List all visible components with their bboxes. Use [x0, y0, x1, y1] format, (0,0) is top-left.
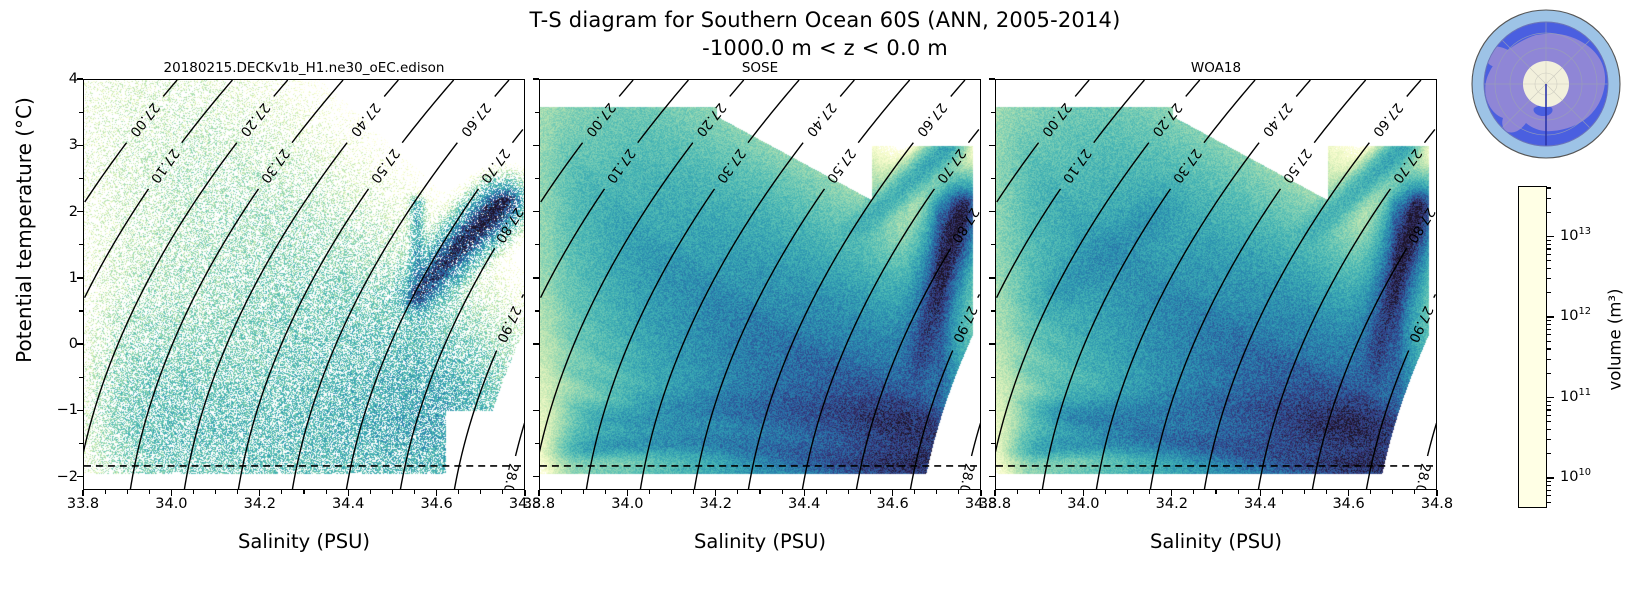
- y-minor-tick-mark: [535, 112, 539, 113]
- density-contour-line: [968, 129, 978, 142]
- y-tick-label: −1: [57, 402, 78, 418]
- colorbar-minor-tick-mark: [1547, 409, 1551, 410]
- density-contour-line: [748, 143, 913, 489]
- y-axis-label: Potential temperature (°C): [12, 10, 36, 450]
- colorbar-tick-mark: [1547, 397, 1554, 398]
- panel-title-woa18: WOA18: [995, 59, 1437, 77]
- density-contour-label: 27.90: [949, 303, 979, 344]
- colorbar-minor-tick-mark: [1547, 359, 1551, 360]
- x-minor-tick-mark: [671, 490, 672, 494]
- contour-overlay-sose: 27.0027.1027.2027.3027.4027.5027.6027.70…: [540, 80, 980, 489]
- x-minor-tick-mark: [1127, 490, 1128, 494]
- density-contour-line: [384, 80, 398, 96]
- antarctica-inset-map: [1448, 4, 1644, 164]
- colorbar-tick-labels: 1013101210111010: [1547, 186, 1647, 508]
- plot-area-model: 27.0027.1027.2027.3027.4027.5027.6027.70…: [84, 80, 524, 489]
- x-minor-tick-mark: [994, 490, 995, 494]
- density-contour-label: 27.30: [257, 146, 292, 186]
- density-contour-line: [951, 80, 965, 96]
- x-minor-tick-mark: [870, 490, 871, 494]
- x-minor-tick-mark: [737, 490, 738, 494]
- density-contour-label: 27.40: [1259, 100, 1295, 139]
- colorbar-label: volume (m³): [1606, 225, 1625, 455]
- density-contour-line: [1204, 143, 1369, 489]
- x-tick-label: 34.6: [876, 496, 908, 512]
- density-contour-label: 27.30: [713, 146, 748, 186]
- x-minor-tick-mark: [1304, 490, 1305, 494]
- x-minor-tick-mark: [1392, 490, 1393, 494]
- density-contour-line: [997, 189, 1061, 298]
- density-contour-line: [694, 189, 824, 489]
- x-axis-label-sose: Salinity (PSU): [539, 527, 981, 557]
- density-contour-label: 27.00: [126, 100, 162, 139]
- density-contour-label: 27.80: [492, 205, 524, 245]
- x-tick-label: 34.0: [1067, 496, 1099, 512]
- density-contour-line: [292, 80, 343, 143]
- density-contour-line: [997, 143, 1039, 202]
- x-minor-tick-mark: [1083, 490, 1084, 494]
- colorbar-tick-mark: [1547, 477, 1554, 478]
- y-minor-tick-mark: [535, 377, 539, 378]
- figure-title: T-S diagram for Southern Ocean 60S (ANN,…: [0, 6, 1650, 62]
- x-minor-tick-mark: [259, 490, 260, 494]
- x-minor-tick-mark: [524, 490, 525, 494]
- density-contour-line: [1314, 80, 1365, 143]
- y-minor-tick-mark: [991, 178, 995, 179]
- y-tick-label: −2: [57, 469, 78, 485]
- x-minor-tick-mark: [1017, 490, 1018, 494]
- colorbar-minor-tick-mark: [1547, 348, 1551, 349]
- density-contour-line: [972, 423, 980, 456]
- colorbar-minor-tick-mark: [1547, 198, 1551, 199]
- y-minor-tick-mark: [535, 443, 539, 444]
- x-tick-label: 34.2: [700, 496, 732, 512]
- x-axis-tick-labels-model: 33.834.034.234.434.634.8: [83, 496, 525, 518]
- y-tick-mark: [533, 476, 539, 477]
- y-minor-tick-mark: [991, 377, 995, 378]
- density-contour-line: [856, 248, 950, 489]
- density-contour-label: 27.50: [1279, 146, 1314, 186]
- density-contour-label: 27.60: [457, 100, 493, 139]
- x-axis-tick-labels-woa18: 33.834.034.234.434.634.8: [995, 496, 1437, 518]
- x-minor-tick-mark: [826, 490, 827, 494]
- density-contour-line: [586, 189, 714, 489]
- density-contour-line: [1296, 80, 1310, 96]
- density-contour-label: 27.10: [603, 145, 638, 185]
- x-minor-tick-mark: [1348, 490, 1349, 494]
- x-minor-tick-mark: [1436, 490, 1437, 494]
- x-minor-tick-mark: [215, 490, 216, 494]
- y-tick-mark: [989, 145, 995, 146]
- contour-overlay-model: 27.0027.1027.2027.3027.4027.5027.6027.70…: [84, 80, 524, 489]
- colorbar-minor-tick-mark: [1547, 260, 1551, 261]
- density-contour-line: [1150, 189, 1280, 489]
- x-minor-tick-mark: [914, 490, 915, 494]
- y-minor-tick-mark: [991, 443, 995, 444]
- density-contour-line: [85, 143, 127, 202]
- x-minor-tick-mark: [1282, 490, 1283, 494]
- colorbar-tick-mark: [1547, 316, 1554, 317]
- density-contour-line: [638, 80, 689, 143]
- ts-panel-woa18[interactable]: 27.0027.1027.2027.3027.4027.5027.6027.70…: [995, 79, 1437, 490]
- density-contour-label: 27.50: [367, 146, 402, 186]
- colorbar-minor-tick-mark: [1547, 341, 1551, 342]
- x-minor-tick-mark: [649, 490, 650, 494]
- y-tick-mark: [77, 343, 83, 344]
- x-minor-tick-mark: [348, 490, 349, 494]
- x-minor-tick-mark: [561, 490, 562, 494]
- x-tick-label: 34.8: [1421, 496, 1453, 512]
- x-minor-tick-mark: [281, 490, 282, 494]
- x-minor-tick-mark: [502, 490, 503, 494]
- x-minor-tick-mark: [1171, 490, 1172, 494]
- y-tick-mark: [533, 211, 539, 212]
- x-minor-tick-mark: [370, 490, 371, 494]
- x-minor-tick-mark: [82, 490, 83, 494]
- colorbar-minor-tick-mark: [1547, 405, 1551, 406]
- density-contour-line: [512, 129, 522, 142]
- x-minor-tick-mark: [458, 490, 459, 494]
- colorbar-minor-tick-mark: [1547, 244, 1551, 245]
- y-axis-tick-labels: −2−101234: [34, 79, 78, 490]
- y-tick-mark: [533, 145, 539, 146]
- colorbar-tick-mark: [1547, 236, 1554, 237]
- density-contour-label: 27.30: [1169, 146, 1204, 186]
- density-contour-label: 27.10: [1059, 145, 1094, 185]
- y-tick-mark: [533, 78, 539, 79]
- colorbar-minor-tick-mark: [1547, 373, 1551, 374]
- y-minor-tick-mark: [79, 377, 83, 378]
- x-minor-tick-mark: [848, 490, 849, 494]
- x-minor-tick-mark: [1039, 490, 1040, 494]
- x-tick-label: 34.0: [611, 496, 643, 512]
- colorbar-minor-tick-mark: [1547, 334, 1551, 335]
- density-contour-label: 27.10: [147, 145, 182, 185]
- density-contour-line: [516, 423, 524, 456]
- density-contour-label: 27.00: [582, 100, 618, 139]
- colorbar-minor-tick-mark: [1547, 268, 1551, 269]
- y-tick-mark: [989, 410, 995, 411]
- density-contour-line: [840, 80, 854, 96]
- colorbar-minor-tick-mark: [1547, 329, 1551, 330]
- x-minor-tick-mark: [1061, 490, 1062, 494]
- x-minor-tick-mark: [127, 490, 128, 494]
- x-minor-tick-mark: [782, 490, 783, 494]
- density-contour-line: [163, 80, 177, 96]
- x-axis-tick-labels-sose: 33.834.034.234.434.634.8: [539, 496, 981, 518]
- x-tick-label: 34.2: [1156, 496, 1188, 512]
- x-minor-tick-mark: [1149, 490, 1150, 494]
- density-contour-label: 27.70: [933, 146, 968, 186]
- x-minor-tick-mark: [193, 490, 194, 494]
- x-minor-tick-mark: [326, 490, 327, 494]
- density-contour-line: [1258, 189, 1390, 489]
- y-tick-mark: [77, 476, 83, 477]
- y-minor-tick-mark: [991, 112, 995, 113]
- density-contour-label: 27.70: [1389, 146, 1424, 186]
- y-tick-mark: [989, 78, 995, 79]
- colorbar-minor-tick-mark: [1547, 415, 1551, 416]
- x-tick-label: 34.4: [332, 496, 364, 512]
- x-minor-tick-mark: [605, 490, 606, 494]
- x-tick-label: 33.8: [523, 496, 555, 512]
- y-tick-mark: [77, 410, 83, 411]
- density-contour-label: 27.20: [237, 100, 273, 139]
- y-minor-tick-mark: [79, 310, 83, 311]
- x-minor-tick-mark: [1238, 490, 1239, 494]
- density-contour-line: [978, 294, 980, 297]
- figure-title-line1: T-S diagram for Southern Ocean 60S (ANN,…: [530, 8, 1121, 32]
- density-contour-line: [1434, 294, 1436, 297]
- density-contour-label: 27.70: [477, 146, 512, 186]
- colorbar-minor-tick-mark: [1547, 240, 1551, 241]
- density-contour-line: [346, 189, 478, 489]
- plot-area-woa18: 27.0027.1027.2027.3027.4027.5027.6027.70…: [996, 80, 1436, 489]
- density-contour-label: 27.20: [693, 100, 729, 139]
- x-minor-tick-mark: [303, 490, 304, 494]
- density-contour-line: [238, 189, 368, 489]
- y-minor-tick-mark: [535, 244, 539, 245]
- y-tick-mark: [77, 211, 83, 212]
- colorbar-minor-tick-mark: [1547, 485, 1551, 486]
- density-contour-label: 27.60: [1369, 100, 1405, 139]
- density-contour-line: [1186, 80, 1200, 96]
- x-minor-tick-mark: [693, 490, 694, 494]
- colorbar-minor-tick-mark: [1547, 278, 1551, 279]
- y-tick-mark: [989, 476, 995, 477]
- colorbar-tick-label: 1012: [1560, 308, 1591, 324]
- colorbar-minor-tick-mark: [1547, 495, 1551, 496]
- y-minor-tick-mark: [79, 178, 83, 179]
- colorbar-tick-label: 1010: [1560, 469, 1591, 485]
- x-minor-tick-mark: [1260, 490, 1261, 494]
- x-minor-tick-mark: [436, 490, 437, 494]
- density-contour-line: [1096, 143, 1259, 489]
- density-contour-label: 27.80: [1404, 205, 1436, 245]
- x-minor-tick-mark: [1105, 490, 1106, 494]
- x-tick-label: 34.6: [420, 496, 452, 512]
- x-minor-tick-mark: [480, 490, 481, 494]
- y-minor-tick-mark: [79, 443, 83, 444]
- density-contour-line: [996, 143, 1149, 453]
- colorbar-tick-label: 1011: [1560, 389, 1591, 405]
- x-tick-label: 34.6: [1332, 496, 1364, 512]
- x-tick-label: 34.4: [1244, 496, 1276, 512]
- colorbar-minor-tick-mark: [1547, 254, 1551, 255]
- density-contour-line: [619, 80, 633, 96]
- density-contour-line: [910, 350, 952, 489]
- x-minor-tick-mark: [392, 490, 393, 494]
- x-minor-tick-mark: [759, 490, 760, 494]
- density-contour-line: [1075, 80, 1089, 96]
- density-contour-line: [274, 80, 288, 96]
- colorbar-minor-tick-mark: [1547, 187, 1551, 188]
- colorbar-minor-tick-mark: [1547, 502, 1551, 503]
- x-tick-label: 34.0: [155, 496, 187, 512]
- y-tick-mark: [533, 410, 539, 411]
- x-minor-tick-mark: [804, 490, 805, 494]
- colorbar-minor-tick-mark: [1547, 292, 1551, 293]
- density-contour-line: [495, 80, 509, 96]
- density-contour-line: [1204, 80, 1255, 143]
- colorbar-minor-tick-mark: [1547, 212, 1551, 213]
- contour-overlay-woa18: 27.0027.1027.2027.3027.4027.5027.6027.70…: [996, 80, 1436, 489]
- x-minor-tick-mark: [414, 490, 415, 494]
- density-contour-label: 27.40: [347, 100, 383, 139]
- y-tick-mark: [77, 145, 83, 146]
- density-contour-line: [540, 143, 693, 453]
- x-minor-tick-mark: [1414, 490, 1415, 494]
- colorbar-minor-tick-mark: [1547, 429, 1551, 430]
- density-contour-line: [541, 189, 605, 298]
- density-contour-label: 27.90: [493, 303, 523, 344]
- density-contour-line: [730, 80, 744, 96]
- x-minor-tick-mark: [237, 490, 238, 494]
- colorbar-minor-tick-mark: [1547, 421, 1551, 422]
- density-contour-line: [85, 189, 149, 298]
- x-minor-tick-mark: [958, 490, 959, 494]
- density-contour-line: [1407, 80, 1421, 96]
- colorbar[interactable]: [1518, 186, 1547, 508]
- density-contour-line: [640, 143, 803, 489]
- colorbar-minor-tick-mark: [1547, 324, 1551, 325]
- figure-title-line2: -1000.0 m < z < 0.0 m: [0, 34, 1650, 62]
- density-contour-line: [402, 80, 453, 143]
- x-minor-tick-mark: [892, 490, 893, 494]
- density-contour-line: [748, 80, 799, 143]
- density-contour-line: [802, 189, 934, 489]
- colorbar-minor-tick-mark: [1547, 439, 1551, 440]
- y-tick-mark: [989, 277, 995, 278]
- colorbar-tick-label: 1013: [1560, 228, 1591, 244]
- density-contour-label: 27.60: [913, 100, 949, 139]
- colorbar-gradient: [1519, 187, 1546, 507]
- density-contour-line: [1366, 350, 1408, 489]
- colorbar-minor-tick-mark: [1547, 490, 1551, 491]
- x-minor-tick-mark: [149, 490, 150, 494]
- colorbar-minor-tick-mark: [1547, 453, 1551, 454]
- x-tick-label: 33.8: [67, 496, 99, 512]
- colorbar-minor-tick-mark: [1547, 481, 1551, 482]
- density-contour-label: 27.90: [1405, 303, 1435, 344]
- density-contour-line: [541, 143, 583, 202]
- x-axis-label-woa18: Salinity (PSU): [995, 527, 1437, 557]
- density-contour-line: [858, 80, 909, 143]
- panel-title-model: 20180215.DECKv1b_H1.ne30_oEC.edison: [83, 59, 525, 77]
- y-tick-mark: [989, 343, 995, 344]
- y-tick-mark: [77, 78, 83, 79]
- ts-panel-sose[interactable]: 27.0027.1027.2027.3027.4027.5027.6027.70…: [539, 79, 981, 490]
- density-contour-label: 27.80: [948, 205, 980, 245]
- density-contour-label: 27.20: [1149, 100, 1185, 139]
- y-minor-tick-mark: [535, 310, 539, 311]
- x-minor-tick-mark: [1370, 490, 1371, 494]
- density-contour-line: [400, 248, 494, 489]
- x-minor-tick-mark: [105, 490, 106, 494]
- x-minor-tick-mark: [715, 490, 716, 494]
- density-contour-line: [454, 350, 496, 489]
- x-minor-tick-mark: [936, 490, 937, 494]
- colorbar-minor-tick-mark: [1547, 320, 1551, 321]
- x-minor-tick-mark: [583, 490, 584, 494]
- density-contour-line: [1424, 129, 1434, 142]
- y-minor-tick-mark: [79, 112, 83, 113]
- y-minor-tick-mark: [991, 244, 995, 245]
- density-contour-line: [84, 143, 237, 453]
- y-minor-tick-mark: [79, 244, 83, 245]
- colorbar-minor-tick-mark: [1547, 401, 1551, 402]
- x-minor-tick-mark: [1326, 490, 1327, 494]
- y-minor-tick-mark: [535, 178, 539, 179]
- x-minor-tick-mark: [1193, 490, 1194, 494]
- colorbar-minor-tick-mark: [1547, 248, 1551, 249]
- x-minor-tick-mark: [980, 490, 981, 494]
- y-tick-mark: [533, 277, 539, 278]
- density-contour-line: [1094, 80, 1145, 143]
- x-minor-tick-mark: [171, 490, 172, 494]
- density-contour-line: [184, 143, 347, 489]
- x-tick-label: 34.2: [244, 496, 276, 512]
- x-minor-tick-mark: [627, 490, 628, 494]
- density-contour-line: [130, 189, 258, 489]
- plot-area-sose: 27.0027.1027.2027.3027.4027.5027.6027.70…: [540, 80, 980, 489]
- density-contour-line: [1428, 423, 1436, 456]
- density-contour-line: [1042, 189, 1170, 489]
- x-axis-label-model: Salinity (PSU): [83, 527, 525, 557]
- x-tick-label: 33.8: [979, 496, 1011, 512]
- y-tick-mark: [77, 277, 83, 278]
- x-tick-label: 34.4: [788, 496, 820, 512]
- density-contour-label: 27.40: [803, 100, 839, 139]
- y-minor-tick-mark: [991, 310, 995, 311]
- ts-panel-model[interactable]: 27.0027.1027.2027.3027.4027.5027.6027.70…: [83, 79, 525, 490]
- y-tick-mark: [989, 211, 995, 212]
- panel-title-sose: SOSE: [539, 59, 981, 77]
- y-tick-mark: [533, 343, 539, 344]
- density-contour-line: [182, 80, 233, 143]
- x-minor-tick-mark: [1215, 490, 1216, 494]
- density-contour-line: [522, 294, 524, 297]
- density-contour-label: 27.50: [823, 146, 858, 186]
- density-contour-line: [1312, 248, 1406, 489]
- x-minor-tick-mark: [538, 490, 539, 494]
- density-contour-line: [292, 143, 457, 489]
- density-contour-label: 27.00: [1038, 100, 1074, 139]
